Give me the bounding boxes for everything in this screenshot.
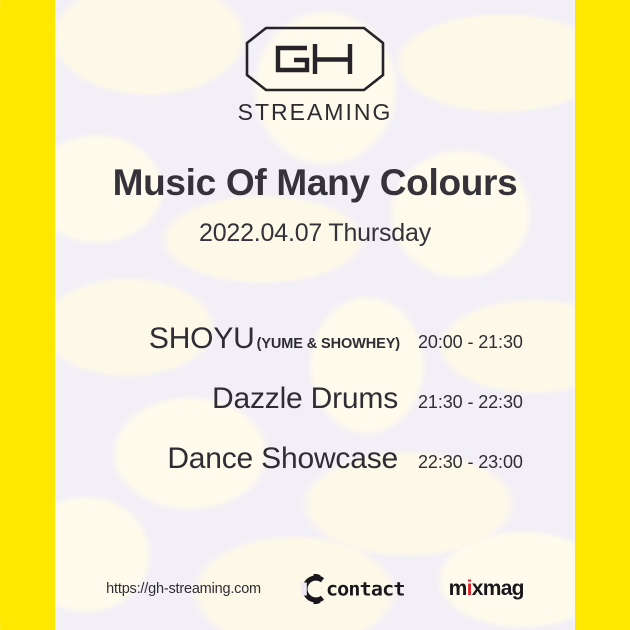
- lineup-row: Dazzle Drums 21:30 - 22:30: [95, 382, 535, 416]
- event-flyer: STREAMING Music Of Many Colours 2022.04.…: [0, 0, 630, 630]
- lineup-row: Dance Showcase 22:30 - 23:00: [95, 442, 535, 476]
- lineup-row: SHOYU(YUME & SHOWHEY) 20:00 - 21:30: [95, 322, 535, 356]
- contact-broken-ring-icon: [299, 574, 329, 604]
- event-date: 2022.04.07 Thursday: [0, 219, 630, 248]
- act-time: 21:30 - 22:30: [400, 392, 535, 413]
- event-title: Music Of Many Colours: [0, 162, 630, 204]
- act-name: SHOYU(YUME & SHOWHEY): [95, 322, 400, 356]
- act-name-sub: (YUME & SHOWHEY): [257, 336, 400, 352]
- mixmag-prefix: m: [449, 577, 467, 600]
- act-name-main: Dance Showcase: [167, 442, 398, 475]
- act-name-main: Dazzle Drums: [212, 382, 398, 415]
- contact-logo-wordmark: contact: [326, 578, 405, 600]
- act-time: 22:30 - 23:00: [400, 452, 535, 473]
- mixmag-logo[interactable]: mixmag: [449, 577, 524, 601]
- act-name: Dazzle Drums: [95, 382, 400, 416]
- act-name-main: SHOYU: [149, 322, 255, 355]
- act-time: 20:00 - 21:30: [400, 332, 535, 353]
- website-url[interactable]: https://gh-streaming.com: [106, 581, 261, 597]
- contact-logo[interactable]: contact: [299, 574, 405, 604]
- act-name: Dance Showcase: [95, 442, 400, 476]
- gh-octagon-logo-icon: [245, 26, 385, 92]
- flyer-footer: https://gh-streaming.com contact mixmag: [0, 574, 630, 604]
- brand-lockup: STREAMING: [0, 26, 630, 126]
- brand-wordmark: STREAMING: [0, 99, 630, 126]
- mixmag-suffix: xmag: [472, 577, 524, 600]
- flyer-content: STREAMING Music Of Many Colours 2022.04.…: [0, 0, 630, 630]
- lineup-list: SHOYU(YUME & SHOWHEY) 20:00 - 21:30 Dazz…: [95, 322, 535, 502]
